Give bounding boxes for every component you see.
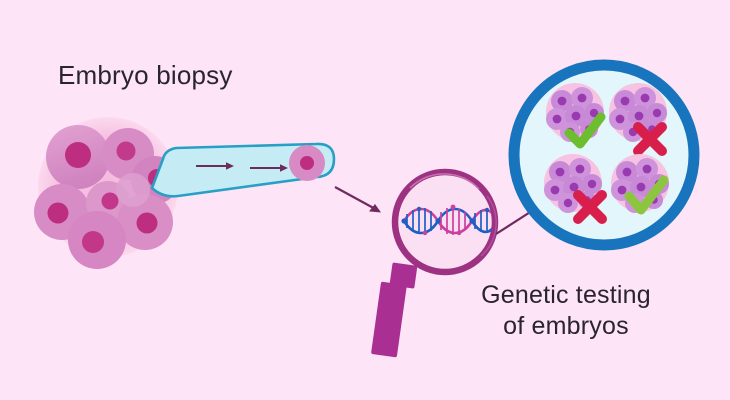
results-dish bbox=[514, 65, 694, 245]
aspirated-cell bbox=[289, 145, 325, 181]
magnifier-handle-collar bbox=[389, 262, 417, 288]
biopsy-pipette bbox=[152, 144, 334, 196]
magnifying-glass bbox=[371, 172, 498, 357]
genetic-testing-line1: Genetic testing bbox=[481, 281, 651, 309]
genetic-testing-label: Genetic testingof embryos bbox=[481, 280, 651, 341]
illustration-canvas: Embryo biopsy Genetic testingof embryos bbox=[0, 0, 730, 400]
genetic-testing-line2: of embryos bbox=[503, 312, 629, 340]
embryo-biopsy-label: Embryo biopsy bbox=[58, 60, 233, 92]
arrow-pipette-to-lens bbox=[335, 187, 381, 213]
magnifier-handle bbox=[371, 282, 407, 358]
